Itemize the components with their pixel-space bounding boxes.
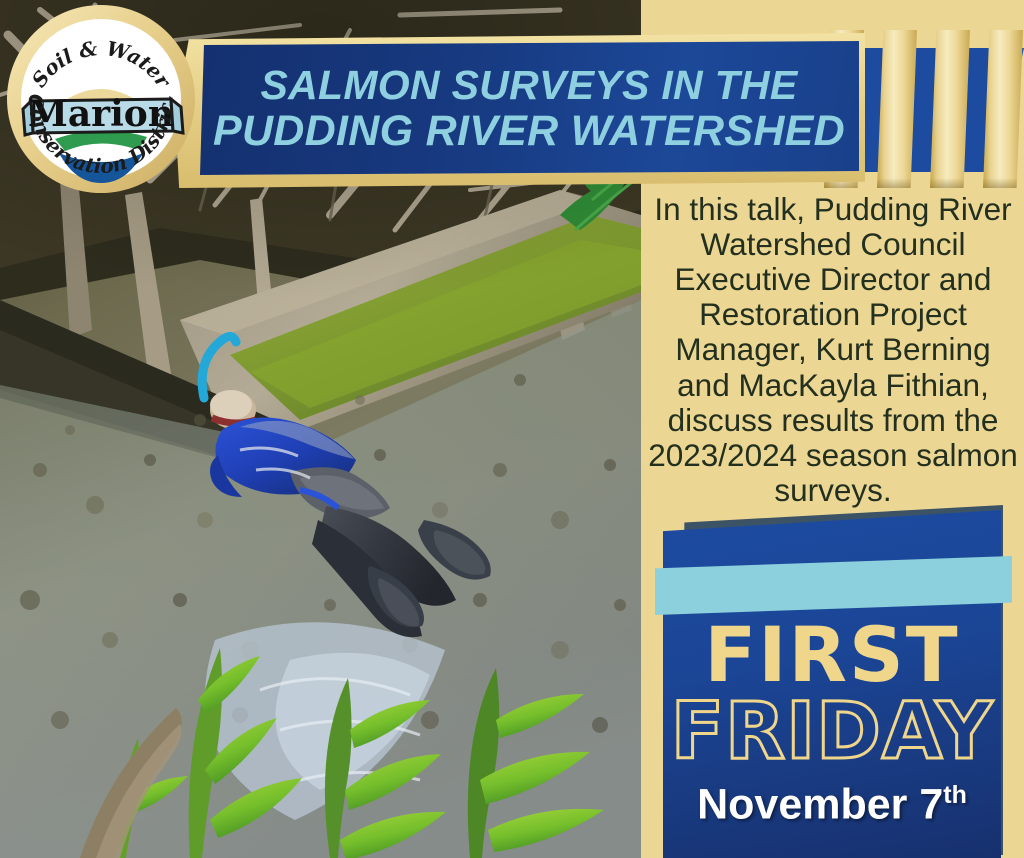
gold-bar-3 <box>930 30 970 188</box>
event-date: November 7th <box>663 783 1001 826</box>
banner-title-line2: PUDDING RIVER WATERSHED <box>213 108 845 154</box>
event-friday-label: FRIDAY <box>663 693 1001 771</box>
banner-title-text: SALMON SURVEYS IN THE PUDDING RIVER WATE… <box>205 44 853 174</box>
first-friday-panel: FIRST FRIDAY November 7th <box>640 505 1024 858</box>
talk-description: In this talk, Pudding River Watershed Co… <box>645 192 1021 508</box>
gold-bar-4 <box>983 30 1023 188</box>
banner-title-line1: SALMON SURVEYS IN THE <box>260 64 797 108</box>
event-date-ordinal: th <box>943 781 967 809</box>
gold-bar-2 <box>877 30 917 188</box>
poster-canvas: SALMON SURVEYS IN THE PUDDING RIVER WATE… <box>0 0 1024 858</box>
title-banner: SALMON SURVEYS IN THE PUDDING RIVER WATE… <box>175 33 865 188</box>
event-first-label: FIRST <box>663 617 1001 693</box>
marion-swcd-logo: Marion Soil & Water Conservation Distric… <box>5 3 197 195</box>
event-date-monthday: November 7 <box>697 780 943 828</box>
